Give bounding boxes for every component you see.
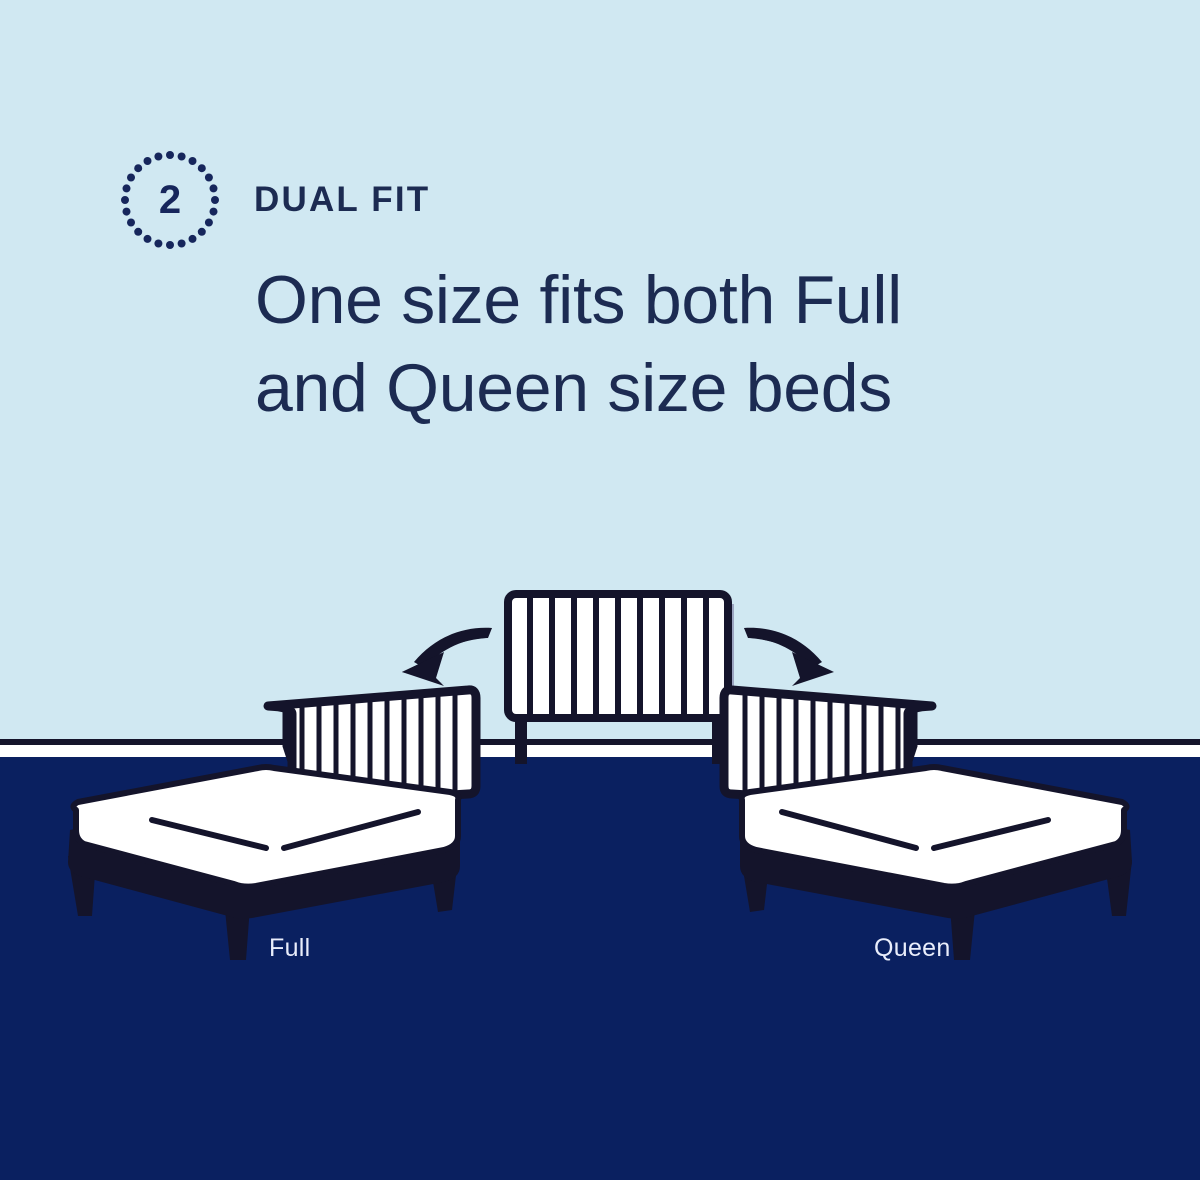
headline-line-2: and Queen size beds	[255, 344, 1055, 432]
bed-label-queen: Queen	[874, 934, 951, 963]
bed-label-full: Full	[269, 934, 310, 963]
dotted-circle-icon: 2	[118, 148, 222, 252]
headline: One size fits both Full and Queen size b…	[255, 256, 1055, 433]
step-badge-row: 2 DUAL FIT	[118, 148, 430, 252]
bottom-margin	[0, 1180, 1200, 1200]
headline-line-1: One size fits both Full	[255, 256, 1055, 344]
step-number: 2	[118, 148, 222, 252]
baseboard	[0, 745, 1200, 759]
illustration-card: 2 DUAL FIT One size fits both Full and Q…	[0, 0, 1200, 1200]
eyebrow-label: DUAL FIT	[254, 180, 430, 220]
wall-baseline	[0, 739, 1200, 745]
